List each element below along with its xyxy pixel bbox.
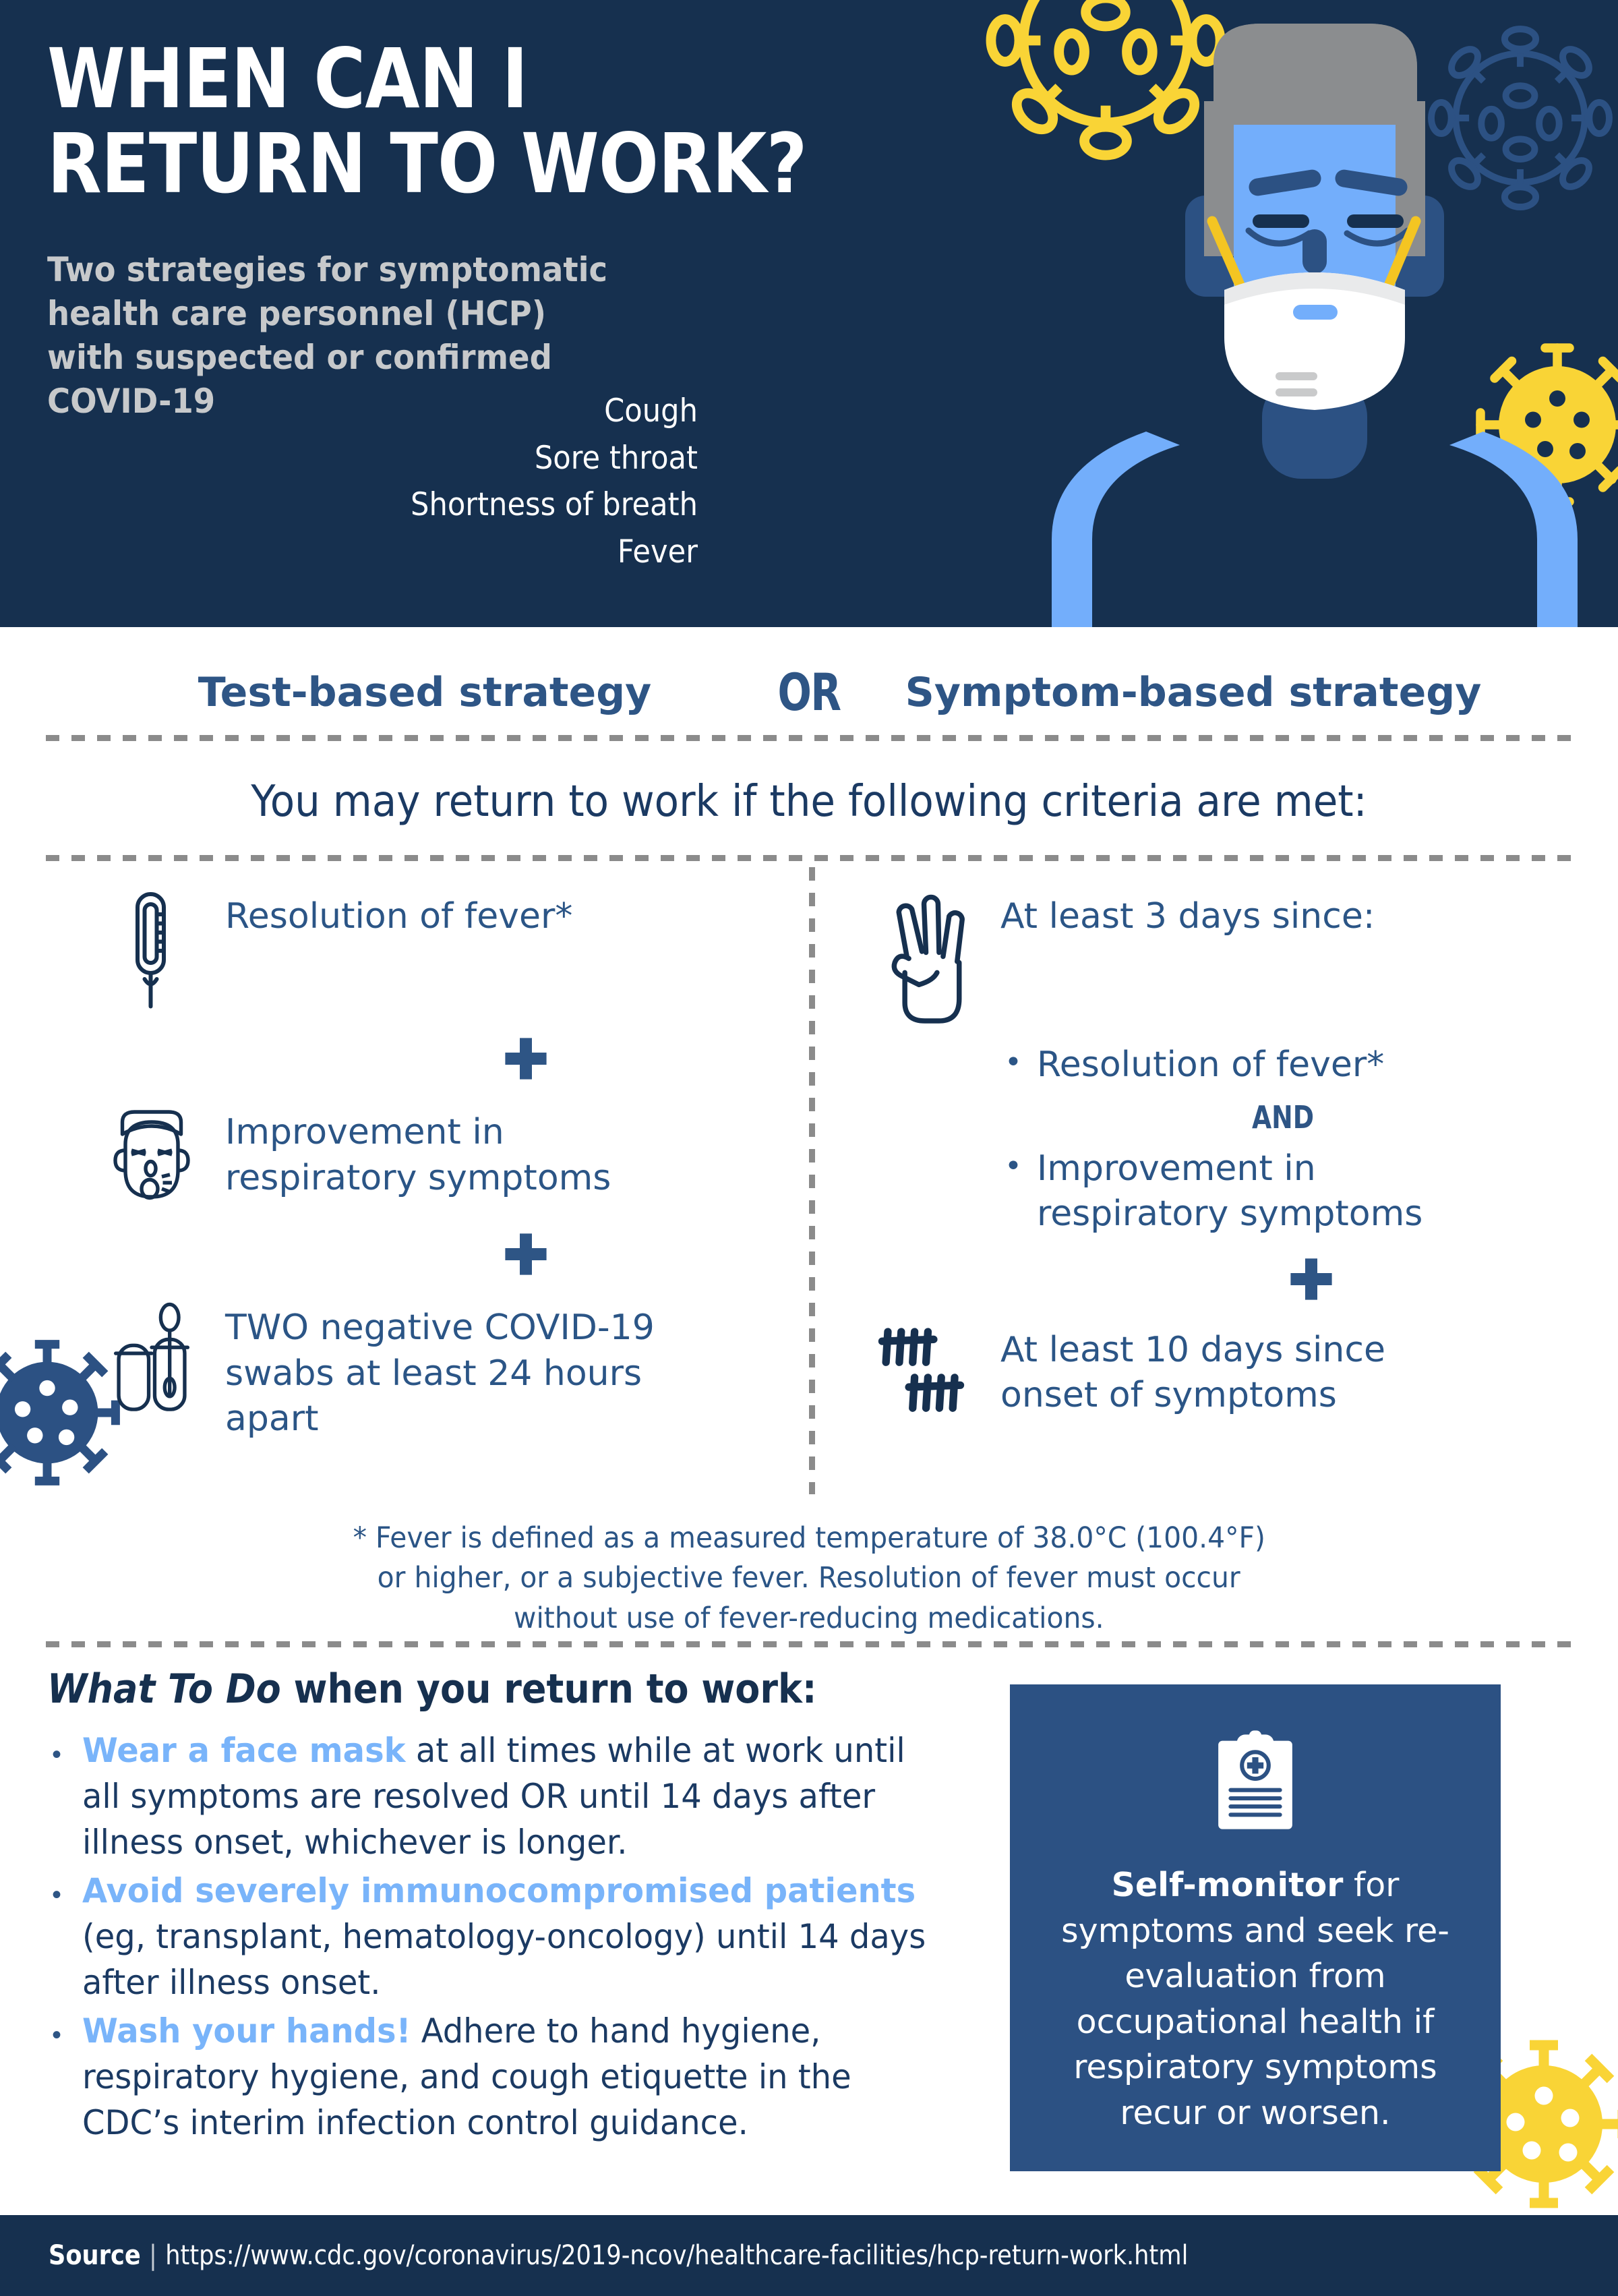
self-monitor-rest-text: for symptoms and seek re-evaluation from… [1061, 1866, 1449, 2132]
bullet-text: Resolution of fever* [1037, 1042, 1384, 1088]
criteria-banner-text: You may return to work if the following … [251, 777, 1367, 827]
footnote-line-1: * Fever is defined as a measured tempera… [353, 1519, 1265, 1558]
criterion-text: At least 10 days since onset of symptoms [1000, 1324, 1385, 1419]
bullet-dot: • [1005, 1042, 1022, 1088]
criteria-banner: You may return to work if the following … [0, 777, 1618, 827]
what-to-do-item-text: Wear a face mask at all times while at w… [82, 1728, 942, 1865]
criterion-text-line-3: apart [225, 1396, 655, 1442]
self-monitor-bold-lead: Self-monitor [1112, 1866, 1344, 1904]
what-to-do-item-text: Wash your hands! Adhere to hand hygiene,… [82, 2008, 942, 2146]
criterion-text: Improvement in respiratory symptoms [225, 1106, 611, 1201]
subtitle-line-1: Two strategies for symptomatic [47, 248, 938, 292]
symptom-item: Cough [227, 388, 698, 435]
bullet-text: Improvement in respiratory symptoms [1037, 1146, 1422, 1237]
plus-icon [1031, 1255, 1591, 1303]
what-to-do-item-text: Avoid severely immunocompromised patient… [82, 1868, 942, 2005]
symptom-list: Cough Sore throat Shortness of breath Fe… [185, 388, 698, 575]
page-title: WHEN CAN I RETURN TO WORK? [47, 37, 870, 206]
source-text: Source|https://www.cdc.gov/coronavirus/2… [49, 2240, 1188, 2271]
header-text-block: WHEN CAN I RETURN TO WORK? Two strategie… [47, 37, 1005, 423]
and-connector-label: AND [1030, 1099, 1535, 1136]
coughing-face-icon [101, 1106, 202, 1207]
source-footer: Source|https://www.cdc.gov/coronavirus/2… [0, 2215, 1618, 2296]
bullet-dot: • [1005, 1146, 1022, 1237]
criterion-at-least-10-days: At least 10 days since onset of symptoms [876, 1324, 1591, 1419]
criteria-columns: Resolution of fever* [0, 890, 1618, 1497]
title-line-1: WHEN CAN I [47, 37, 870, 122]
criterion-bullet-improvement-respiratory: • Improvement in respiratory symptoms [1005, 1146, 1591, 1237]
criterion-text: TWO negative COVID-19 swabs at least 24 … [225, 1301, 655, 1442]
criterion-text-line-1: Improvement in [225, 1110, 611, 1156]
divider-mid [46, 855, 1572, 861]
header-banner: WHEN CAN I RETURN TO WORK? Two strategie… [0, 0, 1618, 627]
criterion-text-line-1: At least 10 days since [1000, 1328, 1385, 1374]
title-line-2: RETURN TO WORK? [47, 122, 870, 207]
tab-symptom-based-strategy[interactable]: Symptom-based strategy [905, 669, 1482, 716]
divider-top [46, 735, 1572, 741]
symptom-item: Sore throat [227, 435, 698, 482]
criterion-text-line-1: TWO negative COVID-19 [225, 1305, 655, 1351]
test-based-column: Resolution of fever* [101, 890, 809, 1442]
criterion-bullet-resolution-fever: • Resolution of fever* [1005, 1042, 1591, 1088]
what-to-do-heading-italic: What To Do [47, 1666, 281, 1713]
criterion-at-least-3-days: At least 3 days since: [876, 890, 1591, 1025]
source-separator: | [141, 2240, 166, 2271]
or-separator-label: OR [736, 662, 882, 722]
strategy-headings: Test-based strategy OR Symptom-based str… [0, 627, 1618, 735]
self-monitor-callout: Self-monitor for symptoms and seek re-ev… [1010, 1684, 1501, 2171]
thermometer-icon [101, 890, 202, 1011]
source-url: https://www.cdc.gov/coronavirus/2019-nco… [165, 2240, 1188, 2271]
item-bold-lead: Avoid severely immunocompromised patient… [82, 1871, 916, 1910]
infographic-page: WHEN CAN I RETURN TO WORK? Two strategie… [0, 0, 1618, 2296]
criterion-text-line-2: respiratory symptoms [225, 1156, 611, 1202]
source-label: Source [49, 2240, 141, 2271]
three-fingers-hand-icon [876, 890, 978, 1025]
tally-marks-icon [876, 1324, 978, 1418]
self-monitor-text: Self-monitor for symptoms and seek re-ev… [1041, 1862, 1470, 2136]
bullet-text-line-1: Improvement in [1037, 1146, 1422, 1192]
plus-icon [243, 1230, 809, 1278]
item-bold-lead: Wear a face mask [82, 1731, 406, 1770]
item-rest-text: (eg, transplant, hematology-oncology) un… [82, 1917, 926, 2002]
list-item: • Wash your hands! Adhere to hand hygien… [47, 2008, 978, 2146]
footnote-line-3: without use of fever-reducing medication… [514, 1599, 1104, 1639]
sick-hcp-illustration [1011, 0, 1618, 627]
criterion-text: Resolution of fever* [225, 890, 572, 940]
symptom-item: Shortness of breath [227, 481, 698, 529]
criterion-resolution-of-fever: Resolution of fever* [101, 890, 809, 1011]
criterion-improvement-respiratory: Improvement in respiratory symptoms [101, 1106, 809, 1207]
symptom-item: Fever [227, 529, 698, 576]
what-to-do-heading-rest: when you return to work: [281, 1666, 817, 1713]
subtitle-line-3: with suspected or confirmed [47, 336, 938, 380]
criterion-text-line-2: swabs at least 24 hours [225, 1351, 655, 1397]
list-item: • Avoid severely immunocompromised patie… [47, 1868, 978, 2005]
test-tubes-swab-icon [101, 1301, 202, 1417]
criterion-two-negative-swabs: TWO negative COVID-19 swabs at least 24 … [101, 1301, 809, 1442]
what-to-do-section: What To Do when you return to work: • We… [47, 1666, 978, 2148]
criterion-heading: At least 3 days since: [1000, 890, 1375, 940]
fever-definition-footnote: * Fever is defined as a measured tempera… [0, 1519, 1618, 1639]
bullet-dot: • [47, 1868, 66, 2005]
criterion-text-line-2: onset of symptoms [1000, 1373, 1385, 1419]
clipboard-medical-icon [1212, 1730, 1298, 1831]
bullet-text-line-2: respiratory symptoms [1037, 1191, 1422, 1237]
divider-bottom [46, 1641, 1572, 1647]
list-item: • Wear a face mask at all times while at… [47, 1728, 978, 1865]
bullet-dot: • [47, 1728, 66, 1865]
bullet-dot: • [47, 2008, 66, 2146]
tab-test-based-strategy[interactable]: Test-based strategy [198, 669, 652, 716]
plus-icon [243, 1034, 809, 1083]
subtitle-line-2: health care personnel (HCP) [47, 292, 938, 336]
item-bold-lead: Wash your hands! [82, 2011, 411, 2051]
symptom-based-column: At least 3 days since: • Resolution of f… [876, 890, 1591, 1419]
footnote-line-2: or higher, or a subjective fever. Resolu… [378, 1558, 1240, 1598]
what-to-do-heading: What To Do when you return to work: [47, 1666, 885, 1713]
